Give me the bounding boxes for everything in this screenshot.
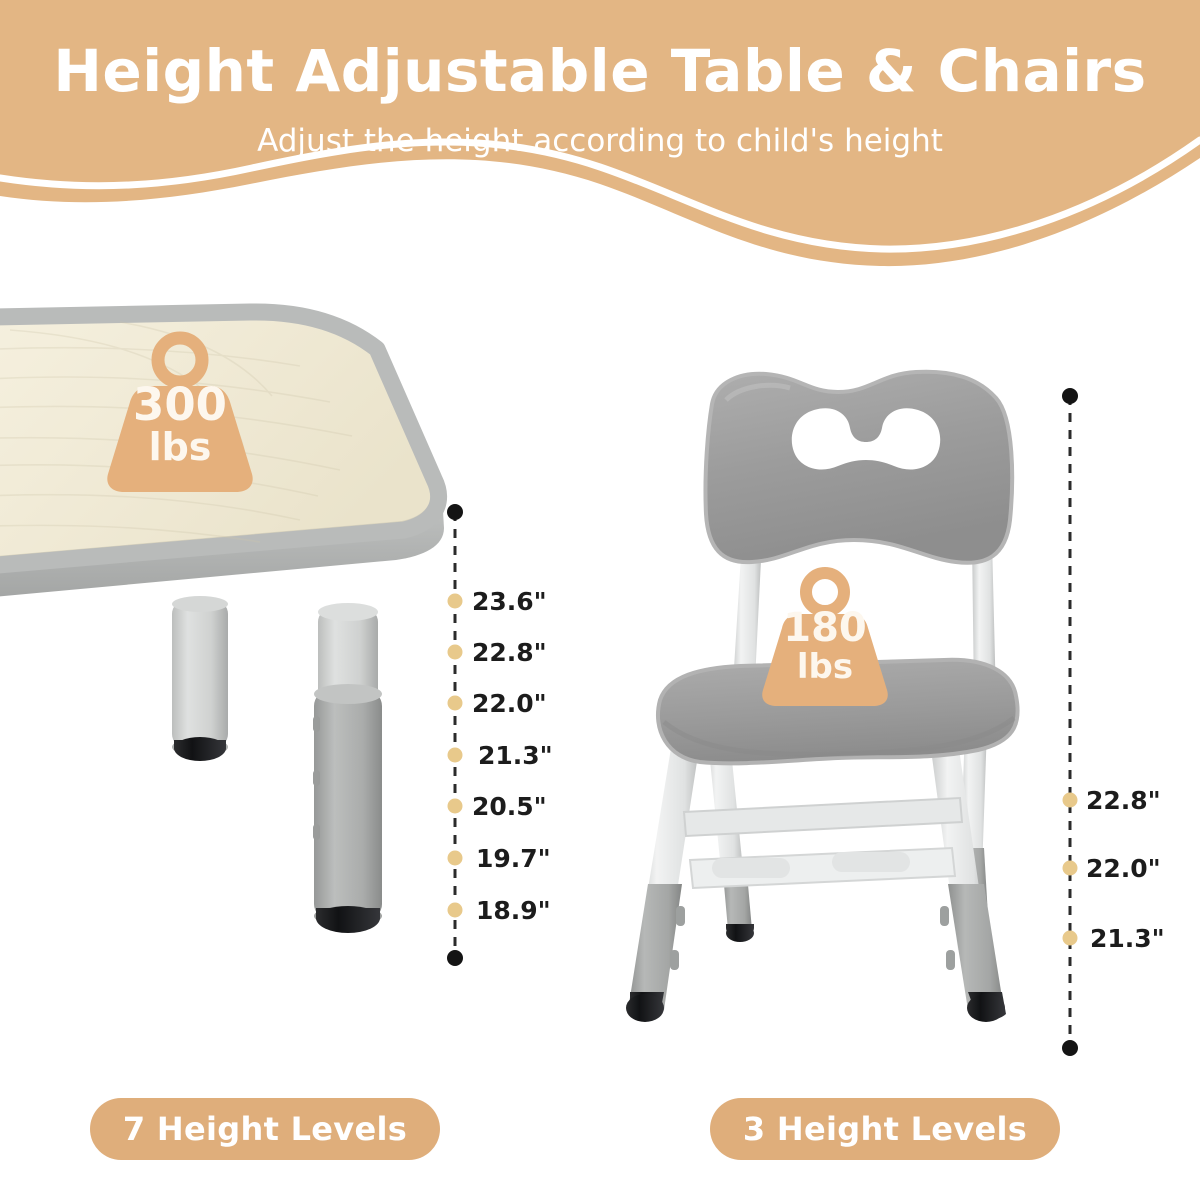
chair-scale (1062, 388, 1078, 1056)
table-level-label-0: 23.6" (472, 589, 547, 614)
table-tick-1 (448, 645, 463, 660)
chair-level-label-2: 21.3" (1090, 926, 1165, 951)
table-tick-0 (448, 594, 463, 609)
table-level-label-4: 20.5" (472, 794, 547, 819)
chair-tick-0 (1063, 793, 1078, 808)
table-level-label-5: 19.7" (476, 846, 551, 871)
table-level-label-6: 18.9" (476, 898, 551, 923)
table-weight-value: 300 (110, 382, 250, 427)
table-scale-cap-top (447, 504, 463, 520)
table-tick-3 (448, 748, 463, 763)
chair-tick-2 (1063, 931, 1078, 946)
table-height-levels-pill: 7 Height Levels (90, 1098, 440, 1160)
table-leg-front (313, 603, 382, 933)
table-level-label-2: 22.0" (472, 691, 547, 716)
table-scale (447, 504, 463, 966)
table-height-levels-label: 7 Height Levels (123, 1110, 407, 1148)
chair-height-levels-label: 3 Height Levels (743, 1110, 1027, 1148)
product-illustrations (0, 0, 1200, 1200)
table-tick-6 (448, 903, 463, 918)
chair-backrest (705, 372, 1012, 563)
table-weight-unit: lbs (110, 428, 250, 466)
table-tick-5 (448, 851, 463, 866)
chair-level-label-1: 22.0" (1086, 856, 1161, 881)
table-tick-4 (448, 799, 463, 814)
table-level-label-3: 21.3" (478, 743, 553, 768)
chair-tick-1 (1063, 861, 1078, 876)
chair-scale-cap-top (1062, 388, 1078, 404)
chair-scale-cap-bottom (1062, 1040, 1078, 1056)
table-tick-2 (448, 696, 463, 711)
table-scale-cap-bottom (447, 950, 463, 966)
chair-level-label-0: 22.8" (1086, 788, 1161, 813)
chair-height-levels-pill: 3 Height Levels (710, 1098, 1060, 1160)
table-level-label-1: 22.8" (472, 640, 547, 665)
infographic-canvas: Height Adjustable Table & Chairs Adjust … (0, 0, 1200, 1200)
chair-weight-value: 180 (760, 608, 890, 648)
chair-weight-unit: lbs (760, 650, 890, 684)
